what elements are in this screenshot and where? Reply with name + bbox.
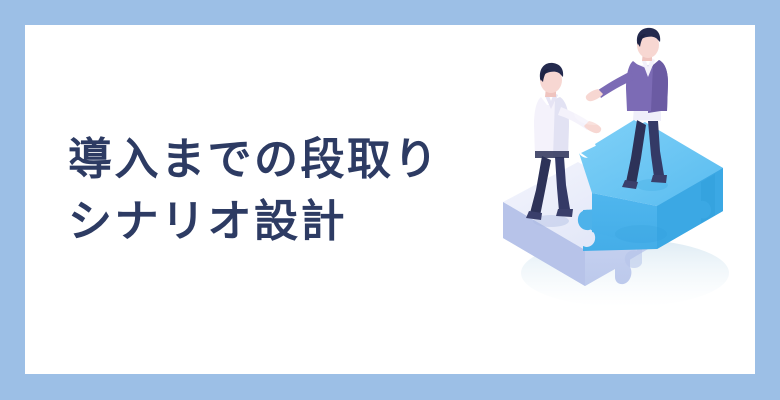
left-person-belt	[535, 151, 569, 158]
handshake-puzzle-illustration	[485, 25, 755, 315]
headline-line-2: シナリオ設計	[68, 191, 488, 253]
illustration-svg	[485, 25, 755, 315]
piece-contact-shadow	[615, 225, 667, 243]
banner-card: 導入までの段取り シナリオ設計	[25, 25, 755, 374]
page-title: 導入までの段取り シナリオ設計	[68, 129, 488, 253]
right-person-jacket-shade	[651, 60, 668, 111]
handshake-glow	[574, 101, 614, 125]
headline-line-1: 導入までの段取り	[68, 129, 488, 191]
banner-canvas: 導入までの段取り シナリオ設計	[0, 0, 780, 400]
right-person-front-shoe	[651, 175, 667, 183]
left-person-front-shoe	[556, 209, 573, 217]
left-person-shirt-shade	[553, 97, 569, 157]
